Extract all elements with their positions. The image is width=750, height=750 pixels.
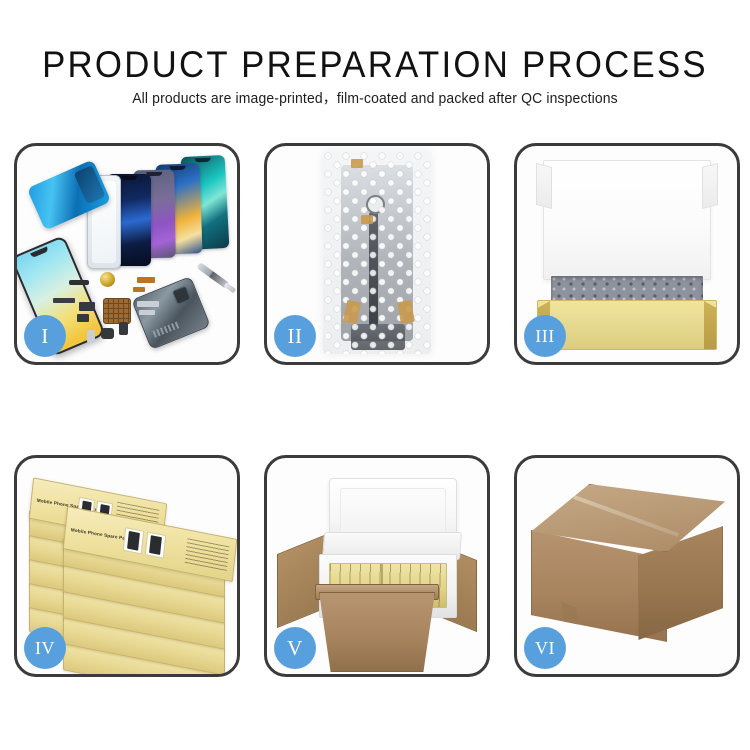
tape-icon [351,159,363,168]
copper-grid-icon [103,298,131,324]
packing-tape-icon [564,609,579,632]
carton-seam [574,495,680,537]
step-badge-5: V [274,627,316,669]
flex-cable-icon [53,298,75,303]
step-badge-2: II [274,315,316,357]
screwdriver-icon [196,262,229,289]
panel-6-illustration: VI [517,458,737,674]
white-box-lid-icon [543,160,711,280]
sealed-carton-icon [531,484,723,648]
tray-front-face [550,311,704,349]
carton-body [319,592,435,672]
step-badge-1: I [24,315,66,357]
panel-2-illustration: II [267,146,487,362]
label-phone-image [145,531,167,558]
flex-cable-icon [133,287,145,292]
step-panel-2: II [264,143,490,365]
sim-tray-icon [87,330,95,343]
panel-5-illustration: V [267,458,487,674]
step-badge-3: III [524,315,566,357]
phone-notch-icon [170,166,186,171]
inner-box-icon [535,158,719,340]
step-panel-6: VI [514,455,740,677]
phone-notch-icon [121,176,137,180]
label-spec-lines [185,538,230,572]
box-label-text: Mobile Phone Spare Parts [71,527,132,542]
step-badge-4: IV [24,627,66,669]
connector-chip-icon [79,302,95,311]
connector-chip-icon [77,314,89,322]
panel-3-illustration: III [517,146,737,362]
phone-notch-icon [195,158,211,163]
label-phone-image [123,527,145,554]
metal-bracket-icon [139,310,155,315]
step-panel-4: Mobile Phone Spare Parts Mobile Phone Sp… [14,455,240,677]
poster-root: PRODUCT PREPARATION PROCESS All products… [0,0,750,750]
speaker-coin-icon [100,272,115,287]
metal-bracket-icon [137,301,159,307]
step-panel-5: V [264,455,490,677]
step-badge-6: VI [524,627,566,669]
panel-1-illustration: I [17,146,237,362]
bubble-texture-icon [323,151,431,354]
button-part-icon [119,322,128,335]
process-steps-grid: I II [0,0,750,750]
phone-notch-icon [30,246,49,258]
tape-icon [361,215,373,224]
camera-module-icon [101,328,114,339]
bubble-wrap-bag-icon [323,151,431,354]
step-panel-3: III [514,143,740,365]
panel-4-illustration: Mobile Phone Spare Parts Mobile Phone Sp… [17,458,237,674]
metal-bracket-icon [69,280,89,285]
flex-cable-icon [137,277,155,283]
step-panel-1: I [14,143,240,365]
